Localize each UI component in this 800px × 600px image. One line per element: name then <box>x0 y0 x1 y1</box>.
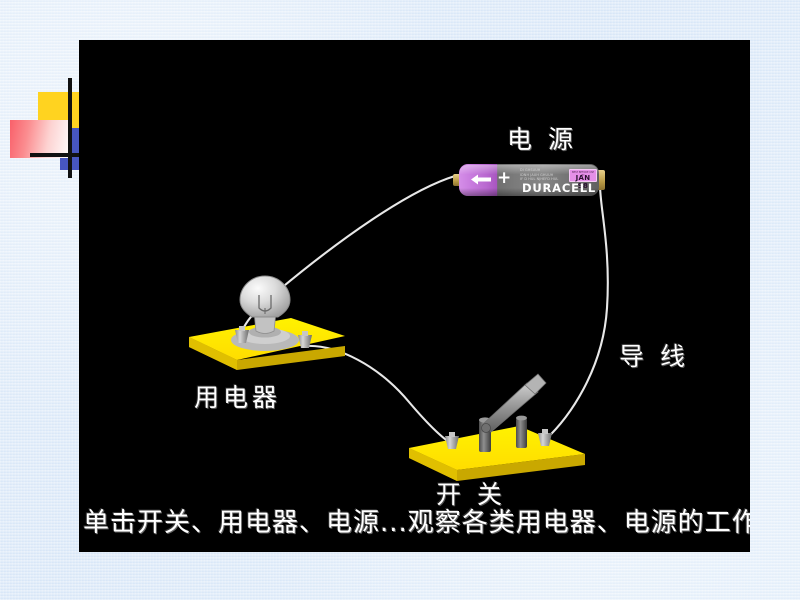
label-wire: 导 线 <box>619 337 689 373</box>
switch-lever[interactable] <box>482 374 547 433</box>
battery-brand-label: DURACELL <box>517 181 599 195</box>
deco-horizontal-bar <box>30 153 82 157</box>
label-power-source: 电 源 <box>507 120 577 156</box>
left-arrow-icon <box>471 174 491 185</box>
switch-component[interactable] <box>409 374 585 481</box>
battery-component[interactable]: + DI GHSUUHIDNH JAUH GHUUHIF D HUL NJHEF… <box>453 164 605 196</box>
component-layer <box>79 40 750 552</box>
deco-vertical-bar <box>68 78 72 178</box>
label-load: 用电器 <box>194 378 281 414</box>
battery-body[interactable]: + DI GHSUUHIDNH JAUH GHUUHIF D HUL NJHEF… <box>459 164 599 196</box>
circuit-diagram-stage: + DI GHSUUHIDNH JAUH GHUUHIF D HUL NJHEF… <box>79 40 750 552</box>
slide-caption: 单击开关、用电器、电源...观察各类用电器、电源的工作。 <box>83 502 746 539</box>
slide-page: + DI GHSUUHIDNH JAUH GHUUHIF D HUL NJHEF… <box>0 0 800 600</box>
presentation-slide: + DI GHSUUHIDNH JAUH GHUUHIF D HUL NJHEF… <box>79 40 750 552</box>
battery-plus-sign: + <box>497 171 511 186</box>
battery-fine-print: DI GHSUUHIDNH JAUH GHUUHIF D HUL NJHEFD … <box>520 168 565 182</box>
load-component[interactable] <box>189 276 345 370</box>
switch-contact-post <box>516 416 527 448</box>
